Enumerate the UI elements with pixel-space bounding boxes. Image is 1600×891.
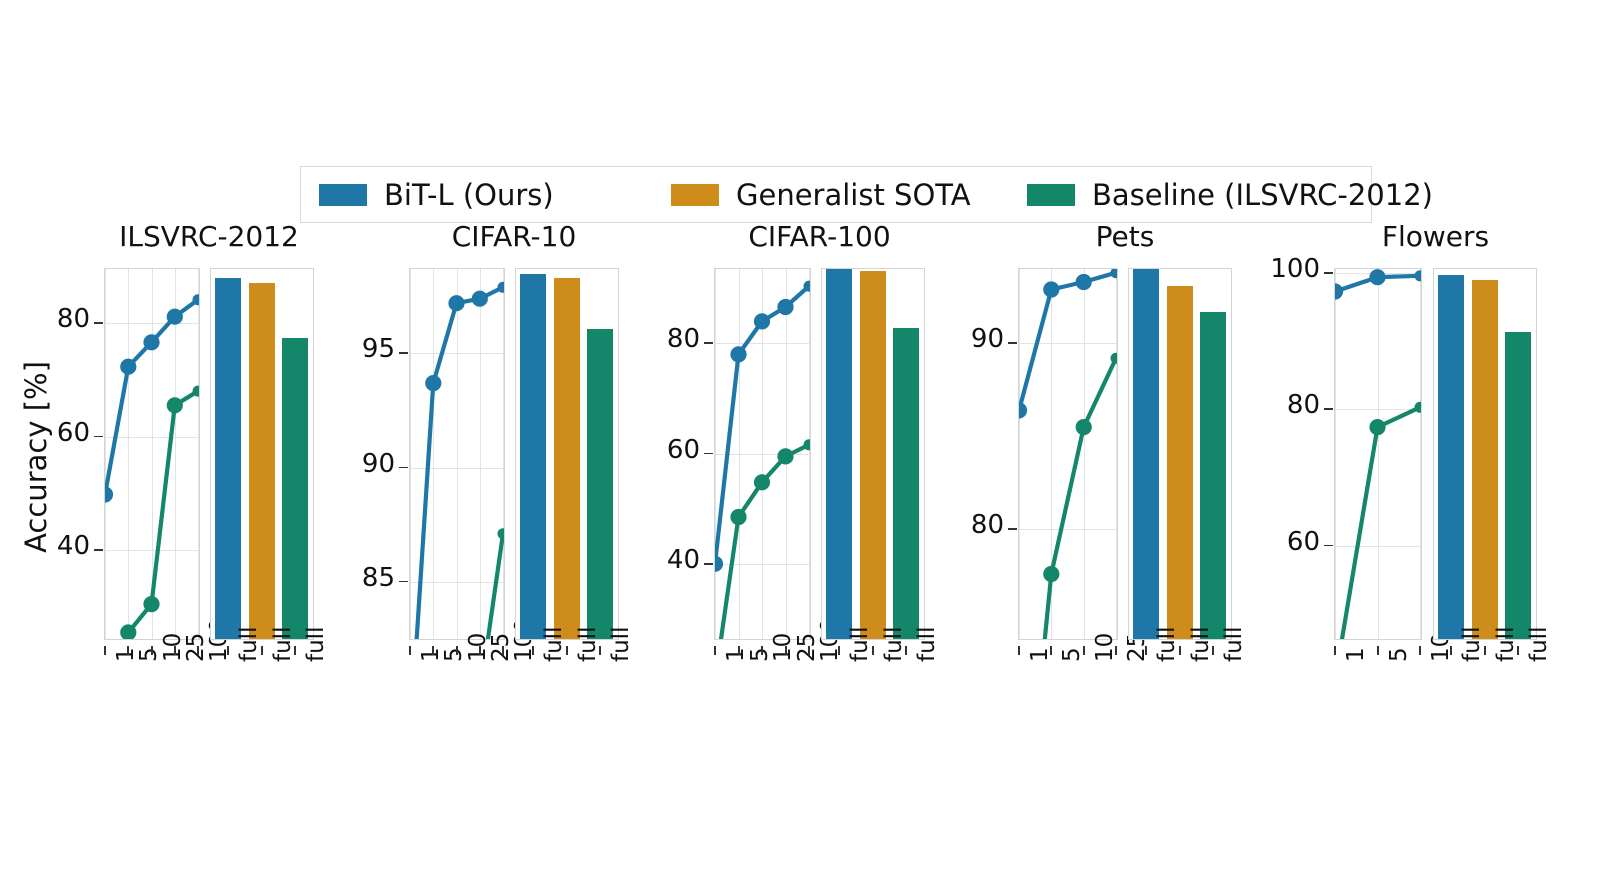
- y-tick-label: 60: [640, 435, 700, 465]
- y-tick-label: 60: [30, 418, 90, 448]
- x-tick-mark: [227, 646, 229, 655]
- x-tick-label: 10: [770, 633, 796, 662]
- data-point-marker: [778, 449, 793, 464]
- bar-generalist-sota: [1167, 286, 1193, 639]
- y-tick-label: 95: [335, 334, 395, 364]
- line-path: [1019, 358, 1116, 640]
- x-tick-label: 10: [160, 633, 186, 662]
- y-tick-mark: [1008, 528, 1017, 530]
- x-tick-mark: [174, 646, 176, 655]
- x-tick-mark: [1450, 646, 1452, 655]
- data-point-marker: [144, 335, 159, 350]
- x-tick-label: full: [575, 627, 601, 662]
- x-tick-mark: [566, 646, 568, 655]
- y-tick-mark: [94, 436, 103, 438]
- x-tick-mark: [1083, 646, 1085, 655]
- y-tick-label: 90: [944, 324, 1004, 354]
- data-point-marker: [498, 282, 505, 292]
- legend-swatch-icon: [1027, 184, 1075, 206]
- y-tick-mark: [1008, 342, 1017, 344]
- line-subplot: [1018, 268, 1118, 640]
- x-tick-mark: [532, 646, 534, 655]
- x-tick-label: 25: [183, 633, 209, 662]
- x-tick-label: 5: [441, 647, 467, 662]
- data-point-marker: [804, 440, 811, 450]
- data-point-marker: [121, 359, 136, 374]
- x-tick-mark: [714, 646, 716, 655]
- line-subplot: [409, 268, 505, 640]
- data-point-marker: [167, 398, 182, 413]
- x-tick-label: full: [847, 627, 873, 662]
- chart-legend: BiT-L (Ours)Generalist SOTABaseline (ILS…: [300, 166, 1372, 223]
- y-tick-label: 85: [335, 563, 395, 593]
- y-tick-label: 80: [1254, 390, 1320, 420]
- y-tick-mark: [399, 352, 408, 354]
- x-tick-label: 10: [1092, 633, 1118, 662]
- line-series-layer: [1019, 269, 1118, 640]
- x-tick-mark: [502, 646, 504, 655]
- x-tick-mark: [1115, 646, 1117, 655]
- y-tick-mark: [704, 563, 713, 565]
- x-tick-mark: [738, 646, 740, 655]
- x-tick-mark: [808, 646, 810, 655]
- data-point-marker: [1334, 284, 1343, 299]
- data-point-marker: [193, 295, 200, 305]
- x-tick-label: 10: [465, 633, 491, 662]
- x-tick-mark: [127, 646, 129, 655]
- data-point-marker: [754, 314, 769, 329]
- data-point-marker: [1111, 268, 1118, 278]
- y-tick-label: 60: [1254, 527, 1320, 557]
- bar-generalist-sota: [1472, 280, 1498, 639]
- x-tick-mark: [1145, 646, 1147, 655]
- x-tick-label: 1: [1343, 647, 1369, 662]
- panel-title: CIFAR-10: [399, 220, 629, 253]
- data-point-marker: [1076, 274, 1091, 289]
- bar-bit-l-ours-: [826, 269, 852, 639]
- data-point-marker: [144, 597, 159, 612]
- bar-subplot: [1128, 268, 1232, 640]
- bar-baseline-ilsvrc-2012-: [893, 328, 919, 639]
- x-tick-mark: [479, 646, 481, 655]
- x-tick-mark: [197, 646, 199, 655]
- bar-generalist-sota: [860, 271, 886, 639]
- line-series-layer: [410, 269, 505, 640]
- x-tick-label: full: [914, 627, 940, 662]
- data-point-marker: [778, 299, 793, 314]
- line-series-layer: [715, 269, 811, 640]
- line-series-layer: [1335, 269, 1422, 640]
- y-tick-mark: [399, 467, 408, 469]
- panel-title: ILSVRC-2012: [94, 220, 324, 253]
- data-point-marker: [1018, 403, 1027, 418]
- x-tick-mark: [785, 646, 787, 655]
- x-tick-label: 5: [136, 647, 162, 662]
- y-tick-mark: [704, 453, 713, 455]
- bar-bit-l-ours-: [1438, 275, 1464, 640]
- line-subplot: [1334, 268, 1422, 640]
- x-tick-label: full: [1188, 627, 1214, 662]
- data-point-marker: [449, 296, 464, 311]
- legend-entry-2[interactable]: Baseline (ILSVRC-2012): [1027, 178, 1433, 212]
- data-point-marker: [498, 529, 505, 539]
- bar-subplot: [1433, 268, 1537, 640]
- x-tick-label: full: [303, 627, 329, 662]
- data-point-marker: [1044, 282, 1059, 297]
- x-tick-label: 5: [1059, 647, 1085, 662]
- data-point-marker: [731, 347, 746, 362]
- bar-baseline-ilsvrc-2012-: [1505, 332, 1531, 639]
- x-tick-mark: [456, 646, 458, 655]
- panel-title: Flowers: [1324, 220, 1547, 253]
- x-tick-mark: [1517, 646, 1519, 655]
- data-point-marker: [1111, 353, 1118, 363]
- y-tick-mark: [94, 322, 103, 324]
- bar-bit-l-ours-: [215, 278, 241, 639]
- x-tick-mark: [872, 646, 874, 655]
- y-tick-label: 80: [944, 510, 1004, 540]
- y-tick-mark: [1324, 272, 1333, 274]
- data-point-marker: [167, 309, 182, 324]
- x-tick-mark: [1484, 646, 1486, 655]
- x-tick-mark: [838, 646, 840, 655]
- y-tick-label: 100: [1254, 254, 1320, 284]
- bar-bit-l-ours-: [520, 274, 546, 639]
- y-tick-mark: [704, 342, 713, 344]
- x-tick-label: 1: [723, 647, 749, 662]
- figure-canvas: BiT-L (Ours)Generalist SOTABaseline (ILS…: [0, 0, 1600, 891]
- bar-baseline-ilsvrc-2012-: [282, 338, 308, 639]
- data-point-marker: [104, 487, 113, 502]
- data-point-marker: [193, 386, 200, 396]
- legend-entry-0[interactable]: BiT-L (Ours): [319, 178, 554, 212]
- line-subplot: [104, 268, 200, 640]
- legend-label: Baseline (ILSVRC-2012): [1092, 178, 1433, 212]
- x-tick-mark: [1377, 646, 1379, 655]
- data-point-marker: [1044, 566, 1059, 581]
- panel-title: CIFAR-100: [704, 220, 935, 253]
- x-tick-mark: [151, 646, 153, 655]
- bar-subplot: [821, 268, 925, 640]
- x-tick-mark: [432, 646, 434, 655]
- x-tick-label: full: [1221, 627, 1247, 662]
- y-tick-mark: [399, 581, 408, 583]
- legend-label: Generalist SOTA: [736, 178, 971, 212]
- line-subplot: [714, 268, 811, 640]
- x-tick-label: 5: [1386, 647, 1412, 662]
- x-tick-label: full: [1459, 627, 1485, 662]
- line-path: [457, 534, 504, 640]
- x-tick-label: 25: [488, 633, 514, 662]
- x-tick-mark: [104, 646, 106, 655]
- x-tick-label: full: [1526, 627, 1552, 662]
- x-tick-mark: [1050, 646, 1052, 655]
- data-point-marker: [754, 475, 769, 490]
- y-tick-label: 40: [30, 531, 90, 561]
- x-tick-mark: [1018, 646, 1020, 655]
- y-tick-label: 80: [640, 324, 700, 354]
- line-path: [105, 300, 198, 495]
- x-tick-label: 5: [747, 647, 773, 662]
- x-tick-mark: [905, 646, 907, 655]
- line-series-layer: [105, 269, 200, 640]
- x-tick-label: full: [881, 627, 907, 662]
- data-point-marker: [1076, 420, 1091, 435]
- y-tick-label: 40: [640, 545, 700, 575]
- line-path: [1335, 407, 1420, 640]
- x-tick-mark: [1179, 646, 1181, 655]
- line-path: [410, 287, 503, 640]
- data-point-marker: [1370, 270, 1385, 285]
- legend-swatch-icon: [319, 184, 367, 206]
- bar-subplot: [515, 268, 619, 640]
- bar-generalist-sota: [249, 283, 275, 639]
- x-tick-mark: [1419, 646, 1421, 655]
- x-tick-label: full: [1154, 627, 1180, 662]
- panel-title: Pets: [1008, 220, 1242, 253]
- x-tick-label: full: [541, 627, 567, 662]
- y-tick-mark: [1324, 408, 1333, 410]
- data-point-marker: [1370, 420, 1385, 435]
- x-tick-label: full: [270, 627, 296, 662]
- data-point-marker: [804, 281, 811, 291]
- legend-entry-1[interactable]: Generalist SOTA: [671, 178, 971, 212]
- x-tick-mark: [261, 646, 263, 655]
- y-tick-mark: [94, 549, 103, 551]
- legend-label: BiT-L (Ours): [384, 178, 554, 212]
- x-tick-label: full: [236, 627, 262, 662]
- x-tick-mark: [599, 646, 601, 655]
- data-point-marker: [1415, 402, 1422, 412]
- bar-subplot: [210, 268, 314, 640]
- data-point-marker: [714, 556, 723, 571]
- x-tick-mark: [409, 646, 411, 655]
- x-tick-mark: [294, 646, 296, 655]
- y-tick-mark: [1324, 545, 1333, 547]
- x-tick-mark: [1212, 646, 1214, 655]
- x-tick-mark: [1334, 646, 1336, 655]
- bar-baseline-ilsvrc-2012-: [587, 329, 613, 639]
- bar-bit-l-ours-: [1133, 269, 1159, 639]
- data-point-marker: [121, 625, 136, 640]
- x-tick-label: full: [1493, 627, 1519, 662]
- line-path: [715, 445, 809, 640]
- x-tick-label: full: [608, 627, 634, 662]
- data-point-marker: [426, 376, 441, 391]
- legend-swatch-icon: [671, 184, 719, 206]
- y-tick-label: 80: [30, 304, 90, 334]
- x-tick-label: 25: [794, 633, 820, 662]
- bar-generalist-sota: [554, 278, 580, 639]
- data-point-marker: [1415, 271, 1422, 281]
- data-point-marker: [731, 509, 746, 524]
- y-tick-label: 90: [335, 449, 395, 479]
- bar-baseline-ilsvrc-2012-: [1200, 312, 1226, 639]
- x-tick-mark: [761, 646, 763, 655]
- data-point-marker: [472, 291, 487, 306]
